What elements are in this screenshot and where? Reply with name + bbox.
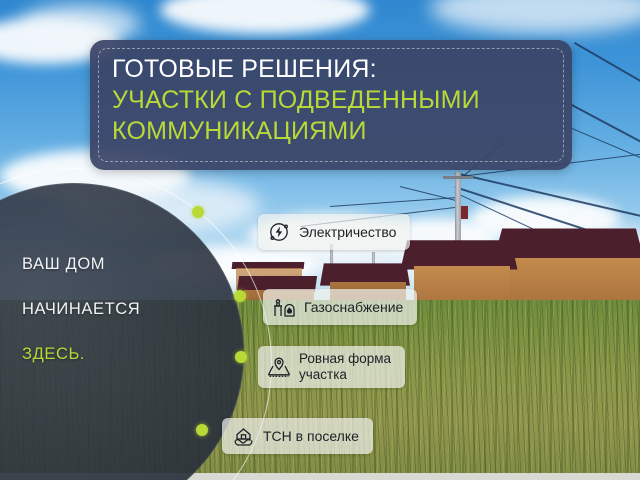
feature-label: Ровная форма участка — [299, 351, 391, 383]
headline-line-1: ГОТОВЫЕ РЕШЕНИЯ: — [112, 54, 554, 85]
headline-line-2: УЧАСТКИ С ПОДВЕДЕННЫМИ — [112, 85, 554, 116]
poster-canvas: ВАШ ДОМ НАЧИНАЕТСЯ ЗДЕСЬ. ГОТОВЫЕ РЕШЕНИ… — [0, 0, 640, 480]
gas-burner-icon — [271, 294, 297, 320]
electricity-bolt-icon — [266, 219, 292, 245]
house-handshake-icon — [230, 423, 256, 449]
feature-badge-tsn[interactable]: ТСН в поселке — [222, 418, 373, 454]
arc-dot — [196, 424, 208, 436]
headline-panel: ГОТОВЫЕ РЕШЕНИЯ: УЧАСТКИ С ПОДВЕДЕННЫМИ … — [90, 40, 572, 170]
arc-dot — [192, 206, 204, 218]
feature-badge-electricity[interactable]: Электричество — [258, 214, 410, 250]
feature-badge-gas[interactable]: Газоснабжение — [263, 289, 417, 325]
pole-box — [461, 206, 468, 219]
tagline-line-1: ВАШ ДОМ — [22, 255, 212, 274]
arc-dot — [235, 351, 247, 363]
headline: ГОТОВЫЕ РЕШЕНИЯ: УЧАСТКИ С ПОДВЕДЕННЫМИ … — [112, 54, 554, 147]
feature-label: Газоснабжение — [304, 299, 403, 315]
feature-badge-plot-shape[interactable]: Ровная форма участка — [258, 346, 405, 388]
tagline: ВАШ ДОМ НАЧИНАЕТСЯ ЗДЕСЬ. — [22, 255, 212, 364]
tagline-line-2: НАЧИНАЕТСЯ — [22, 300, 212, 319]
cloud — [20, 4, 140, 44]
arc-dot — [234, 290, 246, 302]
headline-line-3: КОММУНИКАЦИЯМИ — [112, 116, 554, 147]
feature-label: Электричество — [299, 224, 396, 240]
land-plot-icon — [266, 354, 292, 380]
pole-crossarm — [443, 176, 473, 179]
tagline-line-3: ЗДЕСЬ. — [22, 345, 212, 364]
feature-label: ТСН в поселке — [263, 428, 359, 444]
